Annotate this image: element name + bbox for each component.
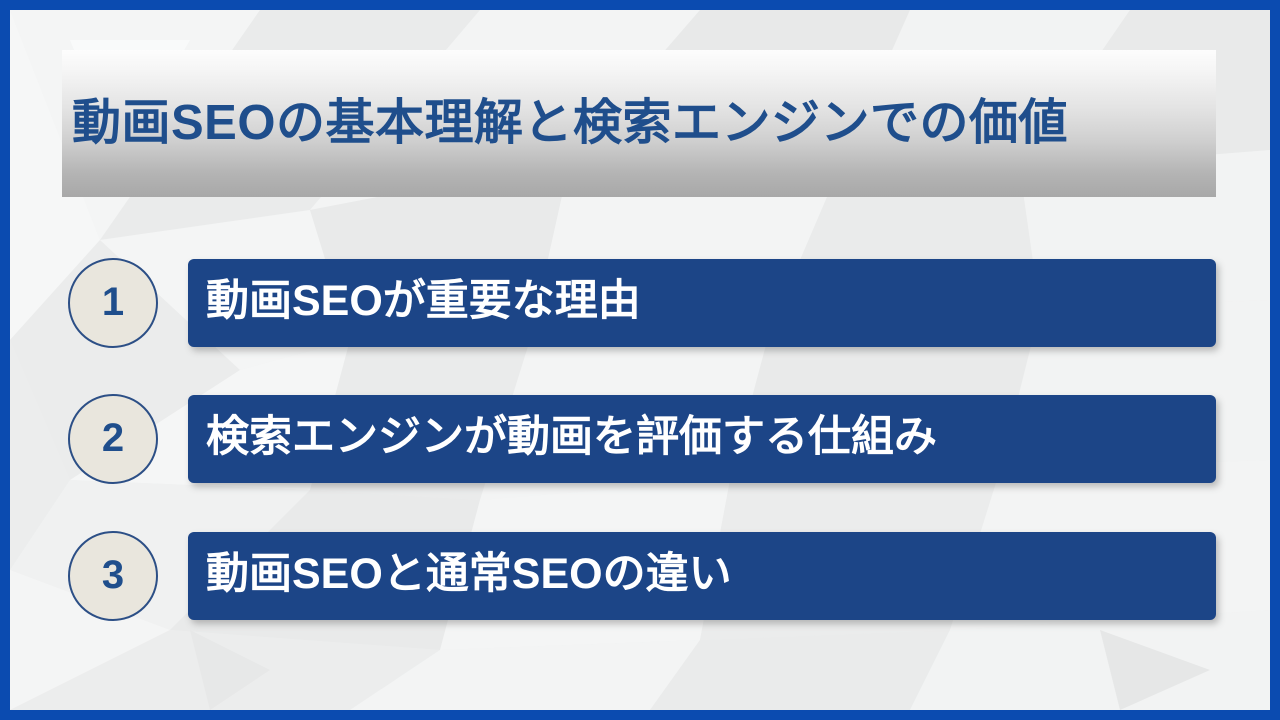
agenda-number-2: 2: [102, 418, 124, 458]
agenda-number-badge-1: 1: [68, 258, 158, 348]
agenda-number-3: 3: [102, 555, 124, 595]
agenda-label-1: 動画SEOが重要な理由: [188, 280, 641, 323]
agenda-label-3: 動画SEOと通常SEOの違い: [188, 553, 732, 596]
agenda-number-1: 1: [102, 282, 124, 322]
agenda-bar-2[interactable]: 検索エンジンが動画を評価する仕組み: [188, 395, 1216, 483]
agenda-number-badge-3: 3: [68, 531, 158, 621]
agenda-row-3[interactable]: 3 動画SEOと通常SEOの違い: [68, 528, 1216, 623]
agenda-number-badge-2: 2: [68, 394, 158, 484]
agenda-bar-1[interactable]: 動画SEOが重要な理由: [188, 259, 1216, 347]
agenda-label-2: 検索エンジンが動画を評価する仕組み: [188, 416, 937, 459]
agenda-row-2[interactable]: 2 検索エンジンが動画を評価する仕組み: [68, 391, 1216, 486]
presentation-slide: 動画SEOの基本理解と検索エンジンでの価値 1 動画SEOが重要な理由 2 検索…: [0, 0, 1280, 720]
agenda-row-1[interactable]: 1 動画SEOが重要な理由: [68, 255, 1216, 350]
agenda-bar-3[interactable]: 動画SEOと通常SEOの違い: [188, 532, 1216, 620]
slide-title-bar: 動画SEOの基本理解と検索エンジンでの価値: [62, 50, 1216, 197]
page-title: 動画SEOの基本理解と検索エンジンでの価値: [62, 97, 1068, 151]
